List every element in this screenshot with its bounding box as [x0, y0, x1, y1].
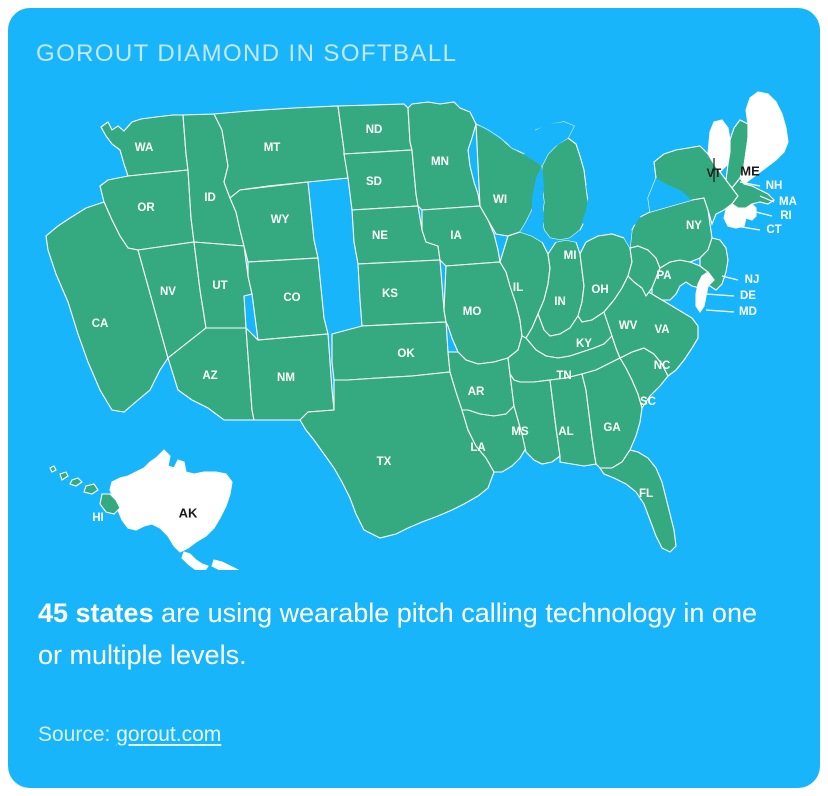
- leader-DE: [706, 294, 734, 296]
- label-CA: CA: [92, 318, 109, 330]
- label-FL: FL: [639, 488, 653, 500]
- label-TX: TX: [377, 456, 392, 468]
- label-CO: CO: [283, 292, 300, 304]
- leader-MD: [706, 310, 734, 312]
- source-label: Source:: [38, 723, 116, 746]
- caption: 45 states are using wearable pitch calli…: [38, 593, 778, 677]
- source-link[interactable]: gorout.com: [116, 723, 221, 746]
- state-OK[interactable]: [332, 322, 450, 380]
- label-MD: MD: [739, 306, 757, 318]
- label-KY: KY: [576, 338, 592, 350]
- leader-RI: [756, 212, 772, 216]
- label-CT: CT: [766, 224, 781, 236]
- label-NH: NH: [766, 180, 783, 192]
- label-OK: OK: [397, 348, 415, 360]
- lake-huron-erie: [582, 182, 642, 234]
- label-MS: MS: [511, 426, 529, 438]
- leader-CT: [736, 226, 760, 230]
- label-WV: WV: [619, 320, 638, 332]
- caption-highlight: 45 states: [38, 598, 154, 628]
- label-MN: MN: [431, 156, 449, 168]
- label-AZ: AZ: [202, 370, 217, 382]
- label-UT: UT: [212, 280, 227, 292]
- label-IN: IN: [554, 296, 566, 308]
- us-choropleth-map: WA OR CA ID NV UT AZ MT WY CO NM ND SD N…: [8, 90, 820, 570]
- label-SD: SD: [366, 176, 382, 188]
- label-ND: ND: [366, 124, 383, 136]
- page-title: GOROUT DIAMOND IN SOFTBALL: [36, 40, 457, 68]
- label-NV: NV: [160, 286, 176, 298]
- label-RI: RI: [780, 210, 792, 222]
- label-VT: VT: [707, 168, 722, 180]
- label-IL: IL: [513, 282, 523, 294]
- label-VA: VA: [654, 324, 669, 336]
- state-RI[interactable]: [746, 204, 756, 220]
- state-KS[interactable]: [358, 260, 446, 326]
- label-IA: IA: [450, 230, 462, 242]
- label-WY: WY: [271, 214, 290, 226]
- label-NY: NY: [686, 220, 702, 232]
- label-PA: PA: [656, 270, 671, 282]
- label-SC: SC: [640, 396, 656, 408]
- label-KS: KS: [382, 288, 398, 300]
- label-MI: MI: [564, 250, 577, 262]
- label-GA: GA: [603, 422, 620, 434]
- label-NJ: NJ: [745, 274, 760, 286]
- infographic-card: GOROUT DIAMOND IN SOFTBALL: [8, 8, 820, 788]
- label-NC: NC: [654, 360, 671, 372]
- label-AR: AR: [468, 386, 485, 398]
- label-AK: AK: [179, 505, 198, 520]
- label-ME: ME: [740, 163, 760, 178]
- label-HI: HI: [92, 512, 104, 524]
- label-AL: AL: [558, 426, 573, 438]
- label-NE: NE: [372, 230, 388, 242]
- label-MT: MT: [264, 142, 281, 154]
- source-line: Source: gorout.com: [38, 723, 221, 747]
- label-OH: OH: [591, 284, 608, 296]
- label-LA: LA: [470, 442, 485, 454]
- label-TN: TN: [556, 370, 571, 382]
- label-MO: MO: [463, 306, 482, 318]
- label-OR: OR: [137, 202, 155, 214]
- label-WI: WI: [493, 194, 507, 206]
- label-MA: MA: [779, 196, 797, 208]
- label-ID: ID: [204, 192, 216, 204]
- label-WA: WA: [135, 142, 154, 154]
- label-NM: NM: [277, 372, 295, 384]
- label-DE: DE: [740, 290, 756, 302]
- state-MT[interactable]: [214, 106, 348, 198]
